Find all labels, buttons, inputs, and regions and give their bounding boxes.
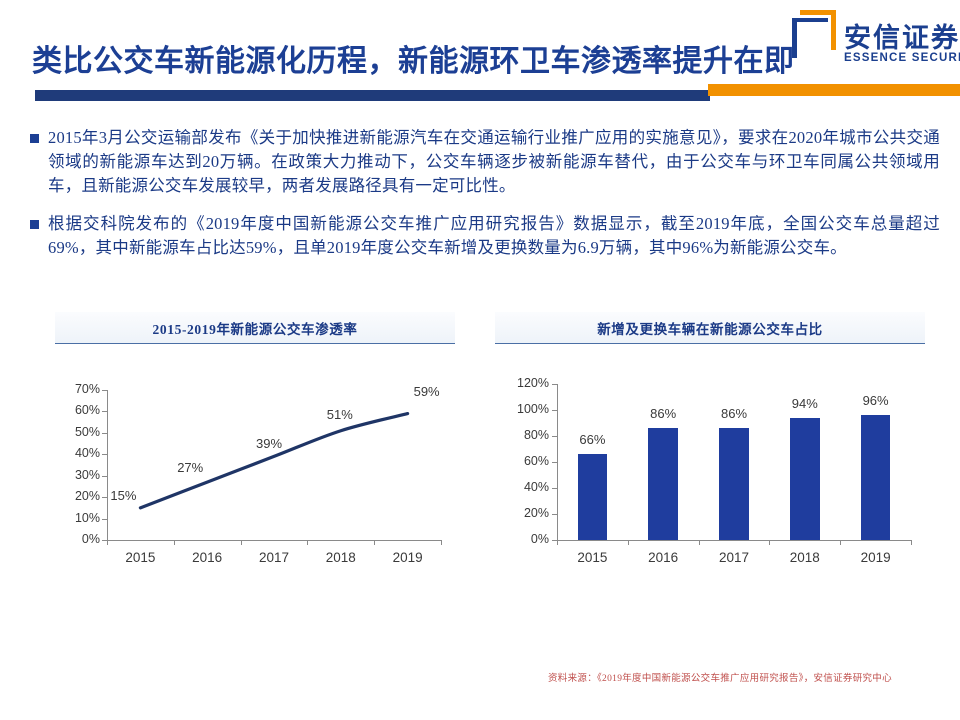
y-tick-mark	[552, 384, 557, 385]
x-tick-label: 2017	[699, 550, 769, 565]
y-tick-label: 100%	[499, 402, 549, 416]
chart-title: 新增及更换车辆在新能源公交车占比	[495, 318, 925, 338]
bar	[648, 428, 678, 540]
data-label: 51%	[327, 407, 353, 422]
source-footnote: 资料来源：《2019年度中国新能源公交车推广应用研究报告》，安信证券研究中心	[548, 670, 892, 684]
data-label: 59%	[414, 384, 440, 399]
x-tick-label: 2015	[557, 550, 627, 565]
y-tick-mark	[552, 488, 557, 489]
data-label: 96%	[854, 393, 898, 408]
company-logo: 安信证券 ESSENCE SECURITIES	[780, 8, 956, 84]
x-axis-line	[557, 540, 911, 541]
x-tick-mark	[557, 540, 558, 545]
logo-english-name: ESSENCE SECURITIES	[844, 52, 960, 64]
bar	[578, 454, 608, 540]
bar	[790, 418, 820, 540]
bullet-square-icon	[30, 220, 39, 229]
body-bullet-list: 2015年3月公交运输部发布《关于加快推进新能源汽车在交通运输行业推广应用的实施…	[30, 126, 940, 274]
chart-header: 2015-2019年新能源公交车渗透率	[55, 312, 455, 344]
data-label: 86%	[712, 406, 756, 421]
y-tick-label: 60%	[499, 454, 549, 468]
x-tick-label: 2016	[628, 550, 698, 565]
chart-header: 新增及更换车辆在新能源公交车占比	[495, 312, 925, 344]
line-chart-plot: 0%10%20%30%40%50%60%70%20152016201720182…	[55, 344, 455, 582]
y-tick-label: 20%	[499, 506, 549, 520]
bullet-text: 2015年3月公交运输部发布《关于加快推进新能源汽车在交通运输行业推广应用的实施…	[48, 126, 940, 198]
data-label: 86%	[641, 406, 685, 421]
y-tick-label: 40%	[499, 480, 549, 494]
x-tick-label: 2018	[770, 550, 840, 565]
logo-bracket-icon	[786, 8, 840, 60]
y-tick-mark	[552, 436, 557, 437]
bar	[861, 415, 891, 540]
page-title: 类比公交车新能源化历程，新能源环卫车渗透率提升在即	[32, 36, 795, 80]
bullet-item: 根据交科院发布的《2019年度中国新能源公交车推广应用研究报告》数据显示，截至2…	[30, 212, 940, 260]
bar	[719, 428, 749, 540]
x-tick-mark	[911, 540, 912, 545]
chart-panel-line: 2015-2019年新能源公交车渗透率 0%10%20%30%40%50%60%…	[55, 312, 455, 582]
y-tick-mark	[552, 462, 557, 463]
y-tick-label: 0%	[499, 532, 549, 546]
y-tick-label: 80%	[499, 428, 549, 442]
chart-title: 2015-2019年新能源公交车渗透率	[55, 318, 455, 338]
y-axis-line	[557, 384, 558, 540]
y-tick-label: 120%	[499, 376, 549, 390]
title-underline-blue	[35, 90, 710, 101]
x-tick-mark	[699, 540, 700, 545]
data-label: 94%	[783, 396, 827, 411]
line-series	[55, 344, 455, 582]
x-tick-mark	[769, 540, 770, 545]
bullet-text: 根据交科院发布的《2019年度中国新能源公交车推广应用研究报告》数据显示，截至2…	[48, 212, 940, 260]
bar-chart-plot: 0%20%40%60%80%100%120%201520162017201820…	[495, 344, 925, 582]
bullet-square-icon	[30, 134, 39, 143]
chart-panel-bar: 新增及更换车辆在新能源公交车占比 0%20%40%60%80%100%120%2…	[495, 312, 925, 582]
x-tick-label: 2019	[841, 550, 911, 565]
slide-canvas: 类比公交车新能源化历程，新能源环卫车渗透率提升在即 安信证券 ESSENCE S…	[0, 0, 960, 720]
data-label: 39%	[256, 436, 282, 451]
x-tick-mark	[840, 540, 841, 545]
x-tick-mark	[628, 540, 629, 545]
y-tick-mark	[552, 514, 557, 515]
logo-chinese-name: 安信证券	[844, 16, 960, 55]
y-tick-mark	[552, 410, 557, 411]
data-label: 66%	[570, 432, 614, 447]
data-label: 27%	[177, 460, 203, 475]
bullet-item: 2015年3月公交运输部发布《关于加快推进新能源汽车在交通运输行业推广应用的实施…	[30, 126, 940, 198]
data-label: 15%	[110, 488, 136, 503]
title-underline-orange	[708, 84, 960, 96]
